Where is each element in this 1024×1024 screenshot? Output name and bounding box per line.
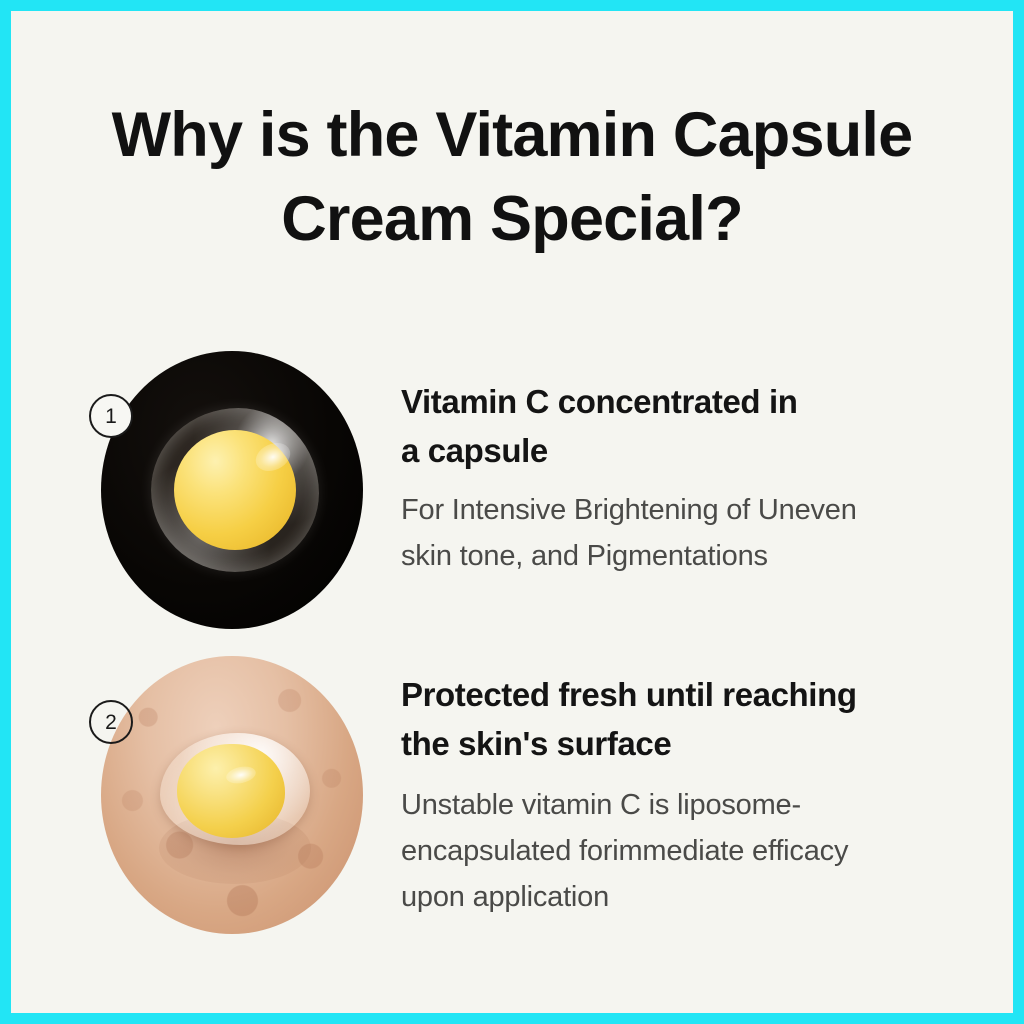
capsule-gel-shell <box>160 733 310 845</box>
step-number-badge-1: 1 <box>89 394 133 438</box>
infographic-card: Why is the Vitamin Capsule Cream Special… <box>0 0 1024 1024</box>
feature-2-body-line-1: Unstable vitamin C is liposome- <box>401 789 801 821</box>
capsule-yellow-core <box>177 744 285 838</box>
feature-2-heading-line-1: Protected fresh until reaching <box>401 676 857 713</box>
page-title-line-2: Cream Special? <box>59 177 965 261</box>
feature-1-copy: Vitamin C concentrated in a capsule For … <box>365 347 965 579</box>
feature-1-body-line-2: skin tone, and Pigmentations <box>401 540 768 572</box>
page-title-line-1: Why is the Vitamin Capsule <box>59 93 965 177</box>
feature-1-heading-line-1: Vitamin C concentrated in <box>401 383 797 420</box>
feature-2-body-line-3: upon application <box>401 881 609 913</box>
feature-1-image-wrap: 1 <box>89 347 365 631</box>
capsule-on-skin-photo <box>101 656 363 934</box>
feature-2-copy: Protected fresh until reaching the skin'… <box>365 652 965 920</box>
feature-1-heading-line-2: a capsule <box>401 432 548 469</box>
feature-1-heading: Vitamin C concentrated in a capsule <box>401 377 965 475</box>
feature-2-body-line-2: encapsulated forimmediate efficacy <box>401 835 848 867</box>
capsule-on-black-background-photo <box>101 351 363 629</box>
feature-1-body: For Intensive Brightening of Uneven skin… <box>401 487 965 579</box>
feature-2-image-wrap: 2 <box>89 652 365 936</box>
feature-2-body: Unstable vitamin C is liposome- encapsul… <box>401 782 965 920</box>
feature-2-heading: Protected fresh until reaching the skin'… <box>401 670 965 768</box>
feature-item-2: 2 Protected fresh until reaching the ski… <box>89 652 965 936</box>
feature-item-1: 1 Vitamin C concentrated in a capsule Fo… <box>89 347 965 631</box>
capsule-gel-shell <box>151 408 319 572</box>
page-title: Why is the Vitamin Capsule Cream Special… <box>11 93 1013 261</box>
step-number-badge-2: 2 <box>89 700 133 744</box>
feature-1-body-line-1: For Intensive Brightening of Uneven <box>401 494 857 526</box>
feature-2-heading-line-2: the skin's surface <box>401 725 671 762</box>
